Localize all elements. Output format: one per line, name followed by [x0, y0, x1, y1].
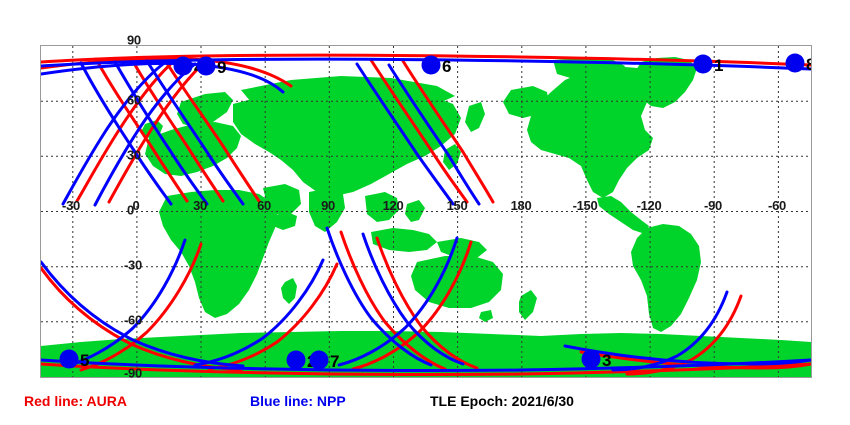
map-canvas: 4 9 6 1	[41, 46, 811, 377]
lon-tick-30: 30	[193, 198, 207, 213]
svg-text:9: 9	[217, 58, 226, 77]
svg-text:5: 5	[80, 351, 89, 370]
lon-tick-120: 120	[383, 198, 404, 213]
legend-blue-line: Blue line: NPP	[250, 393, 346, 409]
lat-tick--30: -30	[124, 258, 142, 273]
lat-tick--60: -60	[124, 313, 142, 328]
lon-tick-60: 60	[257, 198, 271, 213]
svg-text:1: 1	[714, 56, 723, 75]
svg-text:3: 3	[602, 351, 611, 370]
lon-tick--60: -60	[768, 198, 786, 213]
lat-tick--90: -90	[124, 366, 142, 381]
svg-text:7: 7	[330, 352, 339, 371]
world-map-panel: 4 9 6 1	[40, 45, 812, 378]
svg-text:6: 6	[442, 57, 451, 76]
lat-tick-30: 30	[127, 148, 141, 163]
legend-red-line: Red line: AURA	[24, 393, 127, 409]
legend-tle-epoch: TLE Epoch: 2021/6/30	[430, 393, 574, 409]
lon-tick--150: -150	[573, 198, 598, 213]
legend: Red line: AURA Blue line: NPP TLE Epoch:…	[0, 390, 850, 420]
lon-tick-90: 90	[321, 198, 335, 213]
lat-tick-90: 90	[127, 33, 141, 48]
lon-tick--120: -120	[637, 198, 662, 213]
lon-tick--90: -90	[704, 198, 722, 213]
satellite-ground-track-figure: 4 9 6 1	[0, 0, 850, 425]
lon-tick-180: 180	[511, 198, 532, 213]
lon-tick-150: 150	[447, 198, 468, 213]
lon-tick--30: -30	[62, 198, 80, 213]
lat-tick-0: 0	[127, 203, 134, 218]
lat-tick-60: 60	[127, 93, 141, 108]
svg-text:8: 8	[806, 55, 811, 74]
